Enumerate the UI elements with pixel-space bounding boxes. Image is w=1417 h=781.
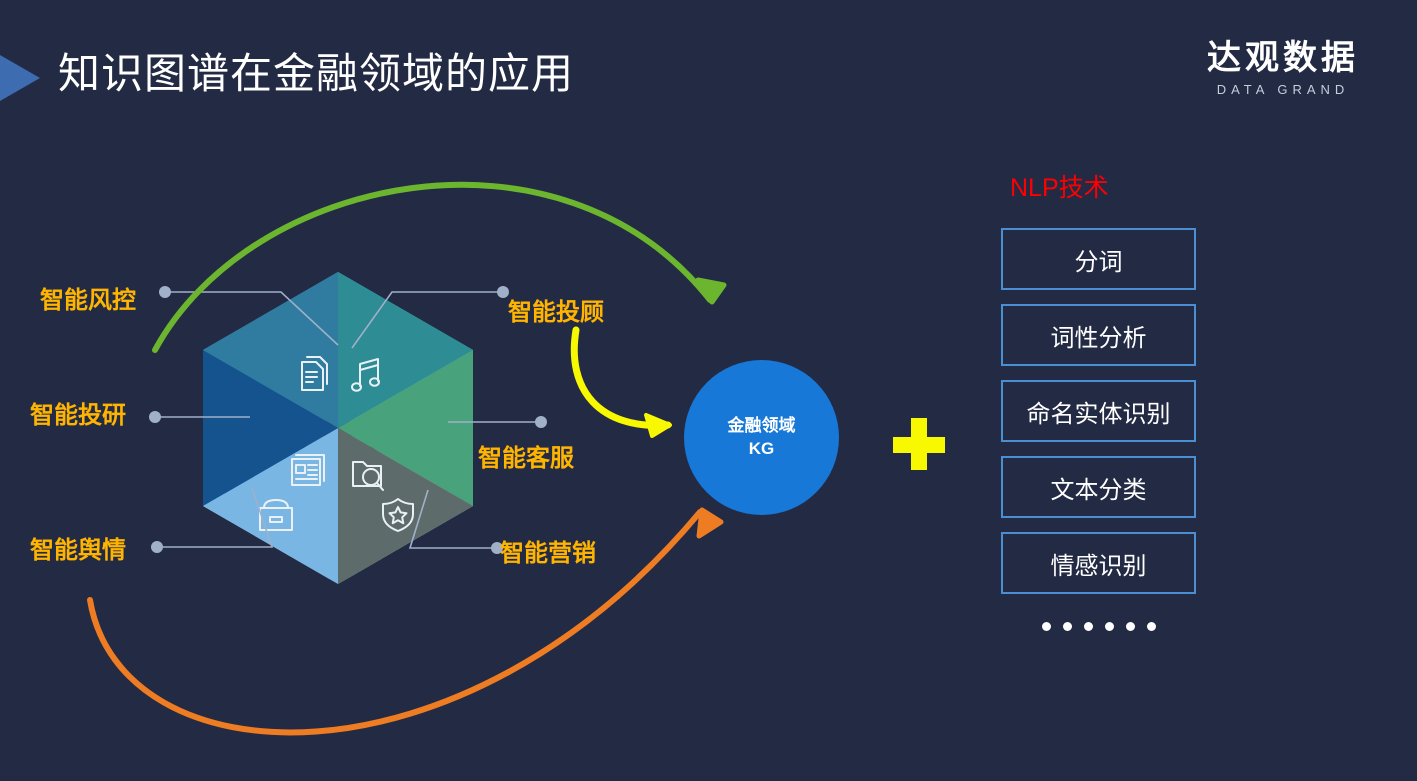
label-research: 智能投研 (30, 395, 126, 430)
slide-root: 知识图谱在金融领域的应用 达观数据 DATA GRAND (0, 0, 1417, 781)
kg-circle-line1: 金融领域 (728, 415, 796, 438)
logo-chinese-text: 达观数据 (1207, 40, 1359, 77)
green-arrow (155, 185, 724, 350)
kg-circle-line2: KG (749, 438, 775, 461)
nlp-ellipsis-dots (1001, 622, 1196, 631)
label-sentiment: 智能舆情 (30, 530, 126, 565)
ellipsis-dot (1147, 622, 1156, 631)
triangle-right-icon (0, 55, 40, 101)
yellow-arrow (574, 330, 670, 436)
nlp-item-list: 分词 词性分析 命名实体识别 文本分类 情感识别 (1001, 228, 1196, 608)
nlp-item-1[interactable]: 词性分析 (1001, 304, 1196, 366)
logo-english-text: DATA GRAND (1207, 82, 1359, 97)
label-advisor: 智能投顾 (508, 292, 604, 327)
nlp-item-3[interactable]: 文本分类 (1001, 456, 1196, 518)
ellipsis-dot (1084, 622, 1093, 631)
nlp-item-4[interactable]: 情感识别 (1001, 532, 1196, 594)
hexagon-core (203, 272, 473, 584)
brand-logo: 达观数据 DATA GRAND (1207, 40, 1359, 97)
nlp-item-2[interactable]: 命名实体识别 (1001, 380, 1196, 442)
ellipsis-dot (1126, 622, 1135, 631)
page-title: 知识图谱在金融领域的应用 (58, 40, 574, 101)
label-customer-service: 智能客服 (478, 438, 574, 473)
plus-icon (893, 418, 945, 470)
nlp-section-title: NLP技术 (1010, 168, 1109, 204)
kg-circle: 金融领域 KG (684, 360, 839, 515)
ellipsis-dot (1042, 622, 1051, 631)
label-risk-control: 智能风控 (40, 280, 136, 315)
nlp-item-0[interactable]: 分词 (1001, 228, 1196, 290)
ellipsis-dot (1105, 622, 1114, 631)
label-marketing: 智能营销 (500, 533, 596, 568)
ellipsis-dot (1063, 622, 1072, 631)
